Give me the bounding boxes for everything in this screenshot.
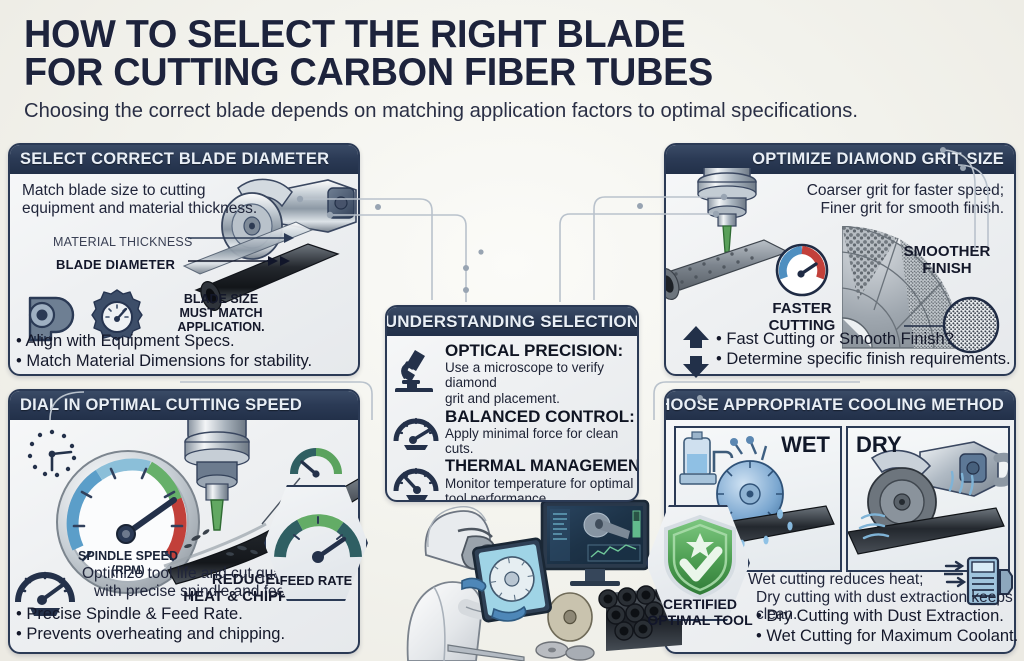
callout-blade-size-line-2: MUST MATCH	[162, 306, 280, 320]
selection-heading: OPTICAL PRECISION:	[445, 342, 629, 360]
up-down-arrow-icon	[681, 326, 711, 378]
bullet-item: • Align with Equipment Specs.	[16, 332, 312, 352]
panel-blade-diameter-bullets: • Align with Equipment Specs. • Match Ma…	[16, 332, 312, 372]
label-smoother-finish: SMOOTHER FINISH	[888, 244, 1006, 278]
lead-line-2: Finer grit for smooth finish.	[744, 200, 1004, 218]
label-smoother-finish-line-2: FINISH	[888, 261, 1006, 278]
panel-cooling-method-bullets: • Dry Cutting with Dust Extraction. • We…	[756, 607, 1018, 647]
page-title-line-1: HOW TO SELECT THE RIGHT BLADE	[24, 16, 984, 54]
selection-desc-line-1: Monitor temperature for optimal	[445, 476, 639, 491]
selection-item-balanced-control[interactable]: BALANCED CONTROL: Apply minimal force fo…	[393, 408, 629, 457]
selection-desc-line-2: grit and placement.	[445, 391, 629, 406]
bullet-item: • Dry Cutting with Dust Extraction.	[756, 607, 1018, 627]
technician-scene-illustration	[392, 495, 692, 661]
lead-line-1: Coarser grit for faster speed;	[744, 182, 1004, 200]
page-subtitle: Choosing the correct blade depends on ma…	[24, 99, 999, 123]
callout-blade-size: BLADE SIZE MUST MATCH APPLICATION.	[162, 292, 280, 334]
panel-understanding-selection-title: UNDERSTANDING SELECTION	[387, 307, 637, 336]
shield-check-icon	[664, 515, 736, 599]
infographic-root: HOW TO SELECT THE RIGHT BLADE FOR CUTTIN…	[0, 0, 1024, 661]
selection-desc-line-2: tool performance.	[445, 491, 639, 502]
feed-rate-label: FEED RATE	[266, 573, 366, 588]
certified-tool-label: CERTIFIED OPTIMAL TOOL	[636, 597, 764, 628]
speed-gauge-icon	[774, 242, 830, 298]
bullet-item: • Prevents overheating and chipping.	[16, 625, 285, 645]
selection-item-optical-precision[interactable]: OPTICAL PRECISION: Use a microscope to v…	[393, 342, 629, 406]
page-header: HOW TO SELECT THE RIGHT BLADE FOR CUTTIN…	[24, 16, 1014, 123]
microscope-icon	[393, 346, 439, 392]
panel-cooling-method-title: CHOOSE APPROPRIATE COOLING METHOD	[666, 391, 1014, 420]
selection-heading: BALANCED CONTROL:	[445, 408, 635, 426]
bullet-item: • Determine specific finish requirements…	[716, 350, 1011, 370]
gauge-thermal-icon	[393, 461, 439, 501]
label-faster-cutting-line-1: FASTER	[762, 301, 842, 318]
selection-desc-line-1: Use a microscope to verify diamond	[445, 360, 629, 390]
dry-cutting-frame: DRY	[846, 426, 1010, 572]
callout-blade-size-line-1: BLADE SIZE	[162, 292, 280, 306]
lead-line-1: Match blade size to cutting	[22, 182, 272, 200]
certified-tool-label-line-2: OPTIMAL TOOL	[636, 613, 764, 629]
panel-grit-size-lead: Coarser grit for faster speed; Finer gri…	[744, 182, 1004, 217]
label-wet: WET	[781, 432, 830, 458]
panel-cutting-speed-title: DIAL IN OPTIMAL CUTTING SPEED	[10, 391, 358, 420]
label-blade-diameter: BLADE DIAMETER	[56, 257, 175, 272]
bullet-item: • Precise Spindle & Feed Rate.	[16, 605, 285, 625]
label-material-thickness: MATERIAL THICKNESS	[53, 235, 193, 249]
lead-line-1: Wet cutting reduces heat;	[748, 571, 1023, 589]
label-smoother-finish-line-1: SMOOTHER	[888, 244, 1006, 261]
blade-diameter-leader-line	[188, 253, 310, 269]
page-title-line-2: FOR CUTTING CARBON FIBER TUBES	[24, 54, 984, 92]
gauge-balanced-icon	[393, 411, 439, 451]
bullet-item: • Match Material Dimensions for stabilit…	[16, 352, 312, 372]
selection-item-thermal-management[interactable]: THERMAL MANAGEMENT: Monitor temperature …	[393, 458, 629, 502]
selection-desc-line-1: Apply minimal force for clean cuts.	[445, 426, 635, 456]
page-title: HOW TO SELECT THE RIGHT BLADE FOR CUTTIN…	[24, 16, 984, 92]
selection-heading: THERMAL MANAGEMENT:	[445, 458, 639, 476]
material-thickness-leader-line	[188, 230, 300, 246]
panel-understanding-selection[interactable]: UNDERSTANDING SELECTION OPTICAL PRECI	[385, 305, 639, 502]
panel-grit-size-bullets: • Fast Cutting or Smooth Finish? • Deter…	[716, 330, 1011, 370]
certified-tool-label-line-1: CERTIFIED	[636, 597, 764, 613]
lead-line-2: equipment and material thickness.	[22, 200, 272, 218]
label-dry: DRY	[856, 432, 902, 458]
bullet-item: • Fast Cutting or Smooth Finish?	[716, 330, 1011, 350]
bullet-item: • Wet Cutting for Maximum Coolant.	[756, 627, 1018, 647]
feed-rate-gauge-icon	[274, 495, 362, 571]
panel-blade-diameter-lead: Match blade size to cutting equipment an…	[22, 182, 272, 217]
panel-cutting-speed-bullets: • Precise Spindle & Feed Rate. • Prevent…	[16, 605, 285, 645]
